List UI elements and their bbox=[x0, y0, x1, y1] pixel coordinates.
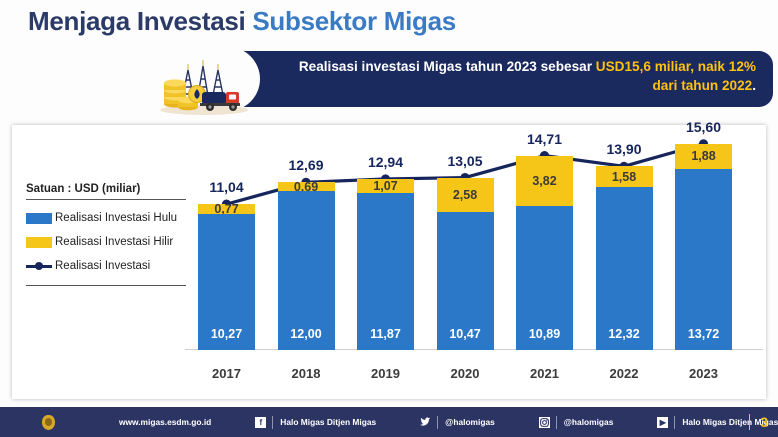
bar-segment-hulu[interactable]: 12,32 bbox=[596, 187, 653, 350]
bar-group[interactable]: 0,6912,00 bbox=[278, 182, 335, 350]
chart-plot-area: 0,7710,2711,0420170,6912,0012,6920181,07… bbox=[185, 125, 766, 399]
bar-label-hilir: 1,58 bbox=[596, 170, 653, 184]
total-value-label: 12,94 bbox=[343, 154, 428, 170]
twitter-icon bbox=[420, 417, 431, 428]
bar-segment-hilir[interactable]: 0,69 bbox=[278, 182, 335, 191]
bar-segment-hulu[interactable]: 10,89 bbox=[516, 206, 573, 350]
bar-segment-hulu[interactable]: 10,47 bbox=[437, 212, 494, 350]
footer-item-twitter[interactable]: @halomigas bbox=[420, 416, 495, 429]
footer-divider bbox=[556, 416, 557, 429]
bar-group[interactable]: 2,5810,47 bbox=[437, 178, 494, 350]
footer-bar: www.migas.esdm.go.id f Halo Migas Ditjen… bbox=[0, 407, 778, 437]
legend-label-total: Realisasi Investasi bbox=[55, 260, 150, 272]
bar-label-hulu: 11,87 bbox=[357, 327, 414, 341]
total-value-label: 15,60 bbox=[661, 119, 746, 135]
total-value-label: 13,05 bbox=[423, 153, 508, 169]
legend-items: Realisasi Investasi Hulu Realisasi Inves… bbox=[26, 200, 186, 286]
bar-group[interactable]: 1,8813,72 bbox=[675, 144, 732, 350]
footer-label-twitter: @halomigas bbox=[445, 417, 495, 427]
bar-segment-hulu[interactable]: 12,00 bbox=[278, 191, 335, 350]
legend-unit-title: Satuan : USD (miliar) bbox=[26, 183, 186, 200]
bar-label-hulu: 10,89 bbox=[516, 327, 573, 341]
bar-label-hulu: 10,47 bbox=[437, 327, 494, 341]
banner-line2-plain: . bbox=[752, 78, 756, 93]
bar-segment-hulu[interactable]: 13,72 bbox=[675, 169, 732, 350]
bar-segment-hulu[interactable]: 11,87 bbox=[357, 193, 414, 350]
footer-item-facebook[interactable]: f Halo Migas Ditjen Migas bbox=[255, 416, 376, 429]
bar-label-hilir: 2,58 bbox=[437, 188, 494, 202]
bar-label-hilir: 3,82 bbox=[516, 174, 573, 188]
bar-label-hilir: 1,07 bbox=[357, 179, 414, 193]
x-axis-tick: 2018 bbox=[264, 366, 349, 381]
page-number: 3 bbox=[760, 414, 768, 430]
oil-rig-coins-tanker-illustration bbox=[158, 54, 250, 116]
x-axis-tick: 2021 bbox=[502, 366, 587, 381]
bar-segment-hilir[interactable]: 1,07 bbox=[357, 179, 414, 193]
bar-label-hulu: 12,32 bbox=[596, 327, 653, 341]
bar-label-hulu: 13,72 bbox=[675, 327, 732, 341]
ministry-emblem-icon bbox=[42, 415, 55, 430]
page-title: Menjaga Investasi Subsektor Migas bbox=[28, 6, 456, 37]
legend-label-hulu: Realisasi Investasi Hulu bbox=[55, 212, 177, 224]
bar-label-hulu: 12,00 bbox=[278, 327, 335, 341]
total-value-label: 11,04 bbox=[184, 179, 269, 195]
footer-divider bbox=[272, 416, 273, 429]
legend-swatch-yellow-icon bbox=[26, 237, 52, 248]
footer-website-label: www.migas.esdm.go.id bbox=[119, 417, 211, 427]
x-axis-tick: 2023 bbox=[661, 366, 746, 381]
footer-divider bbox=[674, 416, 675, 429]
x-axis-tick: 2022 bbox=[582, 366, 667, 381]
bar-segment-hilir[interactable]: 0,77 bbox=[198, 204, 255, 214]
legend-label-hilir: Realisasi Investasi Hilir bbox=[55, 236, 173, 248]
highlight-banner: Realisasi investasi Migas tahun 2023 seb… bbox=[214, 51, 773, 107]
bar-group[interactable]: 1,0711,87 bbox=[357, 179, 414, 350]
footer-website[interactable]: www.migas.esdm.go.id bbox=[119, 417, 211, 427]
legend-swatch-blue-icon bbox=[26, 213, 52, 224]
total-value-label: 14,71 bbox=[502, 131, 587, 147]
bar-group[interactable]: 0,7710,27 bbox=[198, 204, 255, 350]
total-value-label: 12,69 bbox=[264, 157, 349, 173]
legend-item-hulu[interactable]: Realisasi Investasi Hulu bbox=[26, 206, 186, 230]
bar-segment-hilir[interactable]: 1,88 bbox=[675, 144, 732, 169]
total-value-label: 13,90 bbox=[582, 141, 667, 157]
bar-label-hulu: 10,27 bbox=[198, 327, 255, 341]
slide-page: Menjaga Investasi Subsektor Migas Realis… bbox=[0, 0, 778, 437]
bar-segment-hilir[interactable]: 1,58 bbox=[596, 166, 653, 187]
footer-item-instagram[interactable]: @halomigas bbox=[539, 416, 614, 429]
page-title-part2: Subsektor Migas bbox=[252, 6, 456, 36]
legend-item-hilir[interactable]: Realisasi Investasi Hilir bbox=[26, 230, 186, 254]
footer-divider bbox=[437, 416, 438, 429]
page-title-part1: Menjaga Investasi bbox=[28, 6, 252, 36]
bar-segment-hulu[interactable]: 10,27 bbox=[198, 214, 255, 350]
bar-segment-hilir[interactable]: 2,58 bbox=[437, 178, 494, 212]
chart-legend: Satuan : USD (miliar) Realisasi Investas… bbox=[26, 183, 186, 286]
banner-line1-plain: Realisasi investasi Migas tahun 2023 seb… bbox=[299, 59, 596, 74]
x-axis-tick: 2019 bbox=[343, 366, 428, 381]
legend-line-marker-icon bbox=[26, 261, 52, 272]
footer-label-facebook: Halo Migas Ditjen Migas bbox=[280, 417, 376, 427]
x-axis-tick: 2020 bbox=[423, 366, 508, 381]
bar-group[interactable]: 3,8210,89 bbox=[516, 156, 573, 350]
bar-group[interactable]: 1,5812,32 bbox=[596, 166, 653, 350]
instagram-icon bbox=[539, 417, 550, 428]
facebook-icon: f bbox=[255, 417, 266, 428]
bar-label-hilir: 1,88 bbox=[675, 149, 732, 163]
bar-segment-hilir[interactable]: 3,82 bbox=[516, 156, 573, 206]
legend-item-total[interactable]: Realisasi Investasi bbox=[26, 254, 186, 278]
chart-card: Satuan : USD (miliar) Realisasi Investas… bbox=[12, 125, 766, 399]
page-number-divider bbox=[749, 414, 751, 430]
x-axis-tick: 2017 bbox=[184, 366, 269, 381]
youtube-icon: ▶ bbox=[657, 417, 668, 428]
banner-line1-highlight: USD15,6 miliar, naik bbox=[596, 59, 725, 74]
highlight-banner-text: Realisasi investasi Migas tahun 2023 seb… bbox=[272, 58, 756, 95]
footer-label-instagram: @halomigas bbox=[564, 417, 614, 427]
